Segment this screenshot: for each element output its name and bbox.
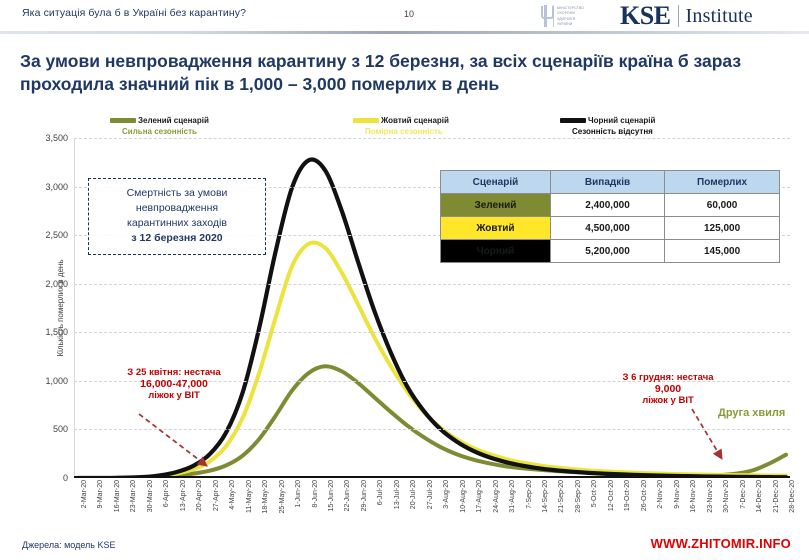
y-axis-label: Кількість померлих в день: [56, 259, 65, 356]
legend-item-yellow: Жовтий сценарій Помірна сезонність: [353, 116, 449, 136]
ministry-name: МІНІСТЕРСТВО ОХОРОНИ ЗДОРОВ'Я УКРАЇНИ: [557, 6, 584, 26]
header-title: Яка ситуація була б в Україні без карант…: [22, 7, 246, 19]
slide-title: За умови невпровадження карантину з 12 б…: [20, 50, 790, 96]
x-tick-label: 7-Sep-20: [526, 480, 533, 509]
x-tick-label: 24-Aug-20: [493, 480, 500, 513]
x-tick-label: 1-Jun-20: [295, 480, 302, 508]
annotation-left-line-2: 16,000-47,000: [84, 378, 264, 390]
x-tick-label: 31-Aug-20: [509, 480, 516, 513]
callout-line-1: Смертність за умови: [95, 186, 259, 201]
kse-mark: KSE: [620, 1, 671, 31]
x-tick-label: 9-Nov-20: [674, 480, 681, 509]
x-tick-label: 17-Aug-20: [476, 480, 483, 513]
table-row: Жовтий 4,500,000 125,000: [441, 217, 780, 240]
annotation-december-icu-shortage: З 6 грудня: нестача 9,000 ліжок у ВІТ: [578, 372, 758, 406]
gridline: [74, 284, 790, 285]
annotation-left-line-3: ліжок у ВІТ: [84, 390, 264, 401]
annotation-right-line-3: ліжок у ВІТ: [578, 395, 758, 406]
y-tick-label: 2,000: [4, 279, 74, 289]
x-tick-label: 9-Mar-20: [97, 480, 104, 508]
x-tick-label: 3-Aug-20: [443, 480, 450, 509]
x-tick-label: 10-Aug-20: [460, 480, 467, 513]
x-tick-label: 2-Mar-20: [81, 480, 88, 508]
x-tick-label: 6-Jul-20: [377, 480, 384, 505]
x-tick-label: 23-Nov-20: [707, 480, 714, 513]
x-tick-label: 28-Sep-20: [575, 480, 582, 513]
legend-item-black: Чорний сценарій Сезонність відсутня: [560, 116, 655, 136]
scenario-summary-table: Сценарій Випадків Померлих Зелений 2,400…: [440, 170, 780, 263]
gridline: [74, 332, 790, 333]
ministry-line-4: УКРАЇНИ: [557, 22, 584, 26]
annotation-right-line-2: 9,000: [578, 383, 758, 395]
table-cell-deaths-green: 60,000: [665, 194, 780, 217]
x-tick-label: 15-Jun-20: [328, 480, 335, 512]
ministry-line-2: ОХОРОНИ: [557, 11, 584, 15]
legend-item-green: Зелений сценарій Сильна сезонність: [110, 116, 209, 136]
legend-label-green: Зелений сценарій: [138, 116, 209, 125]
x-tick-label: 8-Jun-20: [312, 480, 319, 508]
annotation-april-icu-shortage: З 25 квітня: нестача 16,000-47,000 ліжок…: [84, 367, 264, 401]
x-tick-label: 14-Dec-20: [756, 480, 763, 513]
kse-institute-logo: KSE Institute: [620, 1, 753, 31]
table-header-scenario: Сценарій: [441, 171, 551, 194]
table-cell-cases-black: 5,200,000: [550, 240, 664, 263]
table-cell-deaths-yellow: 125,000: [665, 217, 780, 240]
table-row: Чорний 5,200,000 145,000: [441, 240, 780, 263]
x-tick-label: 29-Jun-20: [361, 480, 368, 512]
watermark: WWW.ZHITOMIR.INFO: [651, 536, 791, 551]
table-cell-scenario-green: Зелений: [441, 194, 551, 217]
table-header-row: Сценарій Випадків Померлих: [441, 171, 780, 194]
callout-box-no-quarantine: Смертність за умови невпровадження каран…: [88, 178, 266, 255]
ministry-line-3: ЗДОРОВ'Я: [557, 17, 584, 21]
header-divider: [0, 31, 809, 34]
callout-line-3: карантинних заходів: [95, 216, 259, 231]
y-tick-label: 2,500: [4, 230, 74, 240]
table-row: Зелений 2,400,000 60,000: [441, 194, 780, 217]
table-cell-cases-green: 2,400,000: [550, 194, 664, 217]
y-axis-line: [74, 138, 75, 478]
legend-swatch-yellow: [353, 118, 379, 123]
annotation-second-wave: Друга хвиля: [718, 406, 788, 420]
legend-sublabel-yellow: Помірна сезонність: [353, 127, 449, 136]
kse-logo-divider: [678, 5, 679, 27]
legend-sublabel-green: Сильна сезонність: [110, 127, 209, 136]
x-tick-label: 16-Nov-20: [690, 480, 697, 513]
table-header-cases: Випадків: [550, 171, 664, 194]
legend-label-yellow: Жовтий сценарій: [381, 116, 449, 125]
x-tick-label: 28-Dec-20: [789, 480, 796, 513]
x-tick-label: 26-Oct-20: [641, 480, 648, 511]
x-tick-label: 16-Mar-20: [114, 480, 121, 512]
ministry-of-health-logo: МІНІСТЕРСТВО ОХОРОНИ ЗДОРОВ'Я УКРАЇНИ: [541, 2, 613, 30]
x-tick-label: 23-Mar-20: [130, 480, 137, 512]
x-tick-label: 7-Dec-20: [740, 480, 747, 509]
x-tick-label: 12-Oct-20: [608, 480, 615, 511]
x-tick-label: 19-Oct-20: [624, 480, 631, 511]
table-cell-scenario-yellow: Жовтий: [441, 217, 551, 240]
x-tick-label: 4-May-20: [229, 480, 236, 510]
kse-institute-word: Institute: [686, 5, 753, 28]
table-cell-deaths-black: 145,000: [665, 240, 780, 263]
gridline: [74, 429, 790, 430]
trident-icon: [541, 5, 550, 27]
x-tick-label: 5-Oct-20: [591, 480, 598, 507]
slide-page: Яка ситуація була б в Україні без карант…: [0, 0, 809, 560]
source-note: Джерела: модель KSE: [22, 540, 116, 550]
x-axis-ticks: 2-Mar-209-Mar-2016-Mar-2023-Mar-2030-Mar…: [74, 480, 790, 528]
gridline: [74, 138, 790, 139]
legend-label-black: Чорний сценарій: [588, 116, 655, 125]
x-tick-label: 20-Apr-20: [196, 480, 203, 511]
x-tick-label: 2-Nov-20: [657, 480, 664, 509]
x-tick-label: 11-May-20: [246, 480, 253, 513]
x-tick-label: 27-Apr-20: [213, 480, 220, 511]
callout-line-4: з 12 березня 2020: [95, 231, 259, 246]
x-tick-label: 13-Jul-20: [394, 480, 401, 509]
annotation-left-line-1: З 25 квітня: нестача: [84, 367, 264, 378]
ministry-line-1: МІНІСТЕРСТВО: [557, 6, 584, 10]
table-header-deaths: Померлих: [665, 171, 780, 194]
table-cell-cases-yellow: 4,500,000: [550, 217, 664, 240]
x-tick-label: 6-Apr-20: [163, 480, 170, 507]
x-tick-label: 20-Jul-20: [410, 480, 417, 509]
y-tick-label: 0: [4, 473, 74, 483]
x-tick-label: 21-Sep-20: [558, 480, 565, 513]
x-tick-label: 30-Nov-20: [723, 480, 730, 513]
y-tick-label: 500: [4, 424, 74, 434]
callout-line-2: невпровадження: [95, 201, 259, 216]
x-tick-label: 18-May-20: [262, 480, 269, 513]
x-tick-label: 13-Apr-20: [180, 480, 187, 511]
x-tick-label: 22-Jun-20: [344, 480, 351, 512]
x-tick-label: 14-Sep-20: [542, 480, 549, 513]
x-tick-label: 30-Mar-20: [147, 480, 154, 512]
legend-swatch-green: [110, 118, 136, 123]
page-number: 10: [404, 9, 414, 19]
chart-legend: Зелений сценарій Сильна сезонність Жовти…: [110, 116, 790, 140]
x-tick-label: 27-Jul-20: [427, 480, 434, 509]
y-tick-label: 3,000: [4, 182, 74, 192]
y-tick-label: 3,500: [4, 133, 74, 143]
annotation-right-line-1: З 6 грудня: нестача: [578, 372, 758, 383]
x-tick-label: 25-May-20: [279, 480, 286, 513]
legend-swatch-black: [560, 118, 586, 123]
table-cell-scenario-black: Чорний: [441, 240, 551, 263]
y-tick-label: 1,500: [4, 327, 74, 337]
legend-sublabel-black: Сезонність відсутня: [560, 127, 655, 136]
slide-header: Яка ситуація була б в Україні без карант…: [0, 0, 809, 34]
y-tick-label: 1,000: [4, 376, 74, 386]
x-tick-label: 21-Dec-20: [773, 480, 780, 513]
x-axis-line: [74, 476, 790, 479]
